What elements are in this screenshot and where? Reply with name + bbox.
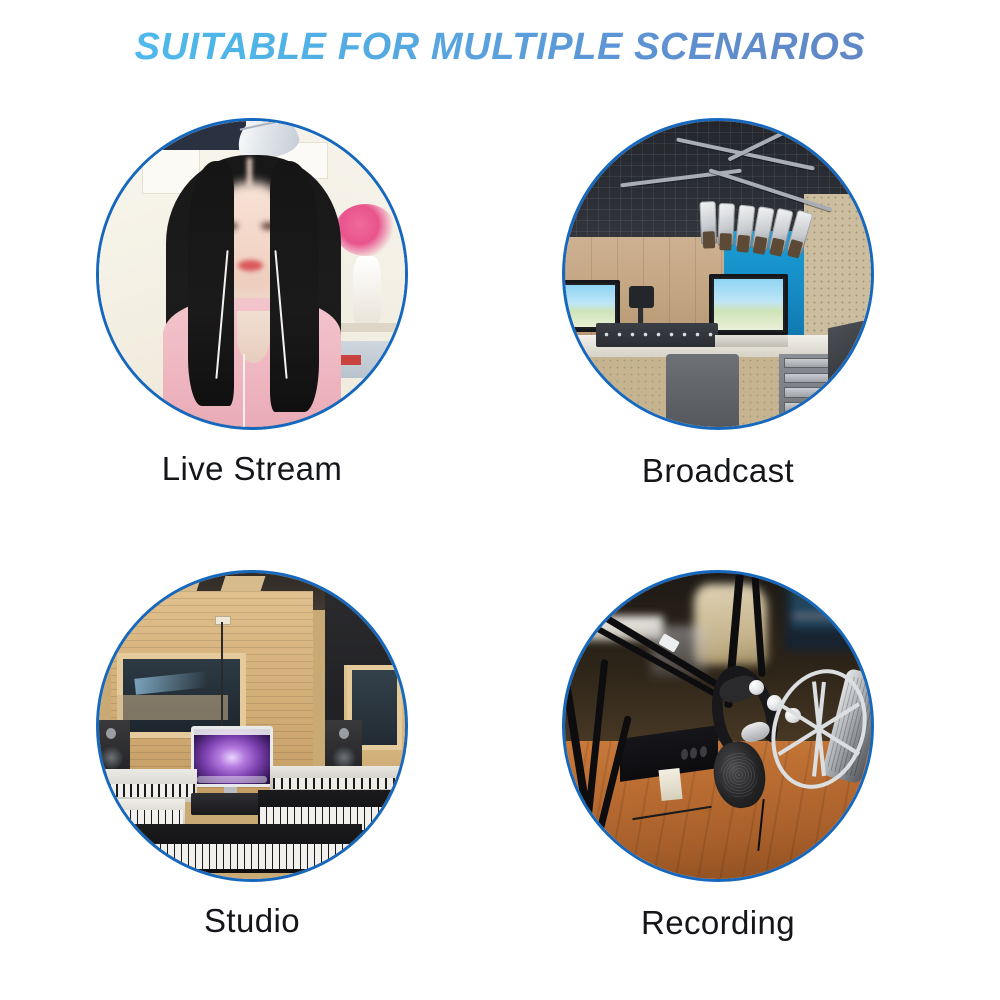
- page-header: SUITABLE FOR MULTIPLE SCENARIOS: [0, 26, 1000, 69]
- scenario-showcase-page: SUITABLE FOR MULTIPLE SCENARIOS: [0, 0, 1000, 1000]
- scenario-card-recording[interactable]: Recording: [488, 570, 948, 990]
- scenario-circle-frame: [96, 118, 408, 430]
- scenario-circle-frame: [562, 118, 874, 430]
- scenario-card-broadcast[interactable]: Broadcast: [488, 118, 948, 538]
- scenario-circle-frame: [96, 570, 408, 882]
- scenario-image-wrap: [562, 118, 874, 430]
- scenario-label-studio: Studio: [22, 902, 482, 940]
- scenario-image-wrap: [96, 118, 408, 430]
- broadcast-photo: [565, 121, 871, 427]
- scenario-image-wrap: [96, 570, 408, 882]
- live-stream-photo: [99, 121, 405, 427]
- scenario-label-recording: Recording: [488, 904, 948, 942]
- scenario-image-wrap: [562, 570, 874, 882]
- scenario-card-studio[interactable]: Studio: [22, 570, 482, 990]
- scenario-grid: Live Stream: [0, 118, 1000, 998]
- page-title: SUITABLE FOR MULTIPLE SCENARIOS: [135, 26, 866, 69]
- scenario-label-broadcast: Broadcast: [488, 452, 948, 490]
- scenario-circle-frame: [562, 570, 874, 882]
- recording-photo: [565, 573, 871, 879]
- scenario-label-live-stream: Live Stream: [22, 450, 482, 488]
- studio-photo: [99, 573, 405, 879]
- scenario-card-live-stream[interactable]: Live Stream: [22, 118, 482, 538]
